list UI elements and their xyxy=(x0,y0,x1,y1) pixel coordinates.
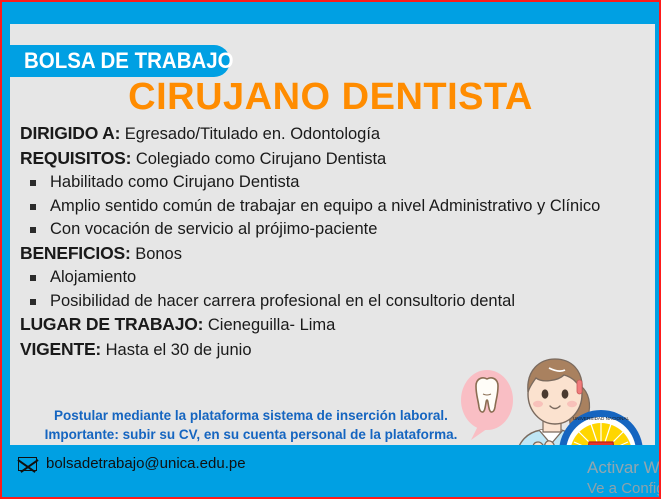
tooth-speech-bubble xyxy=(461,370,513,440)
badge-label: BOLSA DE TRABAJO xyxy=(24,48,234,74)
bullet-square-icon xyxy=(30,180,36,186)
list-item-label: Habilitado como Cirujano Dentista xyxy=(50,171,650,195)
note-line-1: Postular mediante la plataforma sistema … xyxy=(2,406,500,425)
field-lugar-de-trabajo: LUGAR DE TRABAJO: Cieneguilla- Lima xyxy=(20,313,650,338)
list-item-label: Alojamiento xyxy=(50,266,650,290)
list-item: Posibilidad de hacer carrera profesional… xyxy=(30,290,650,314)
windows-activation-watermark: Activar W Ve a Config xyxy=(587,457,659,497)
list-item: Habilitado como Cirujano Dentista xyxy=(30,171,650,195)
bullet-square-icon xyxy=(30,275,36,281)
field-dirigido-a: DIRIGIDO A: Egresado/Titulado en. Odonto… xyxy=(20,122,650,147)
job-posting-poster: BOLSA DE TRABAJO CIRUJANO DENTISTA DIRIG… xyxy=(2,2,659,497)
watermark-line-2: Ve a Config xyxy=(587,478,659,497)
field-label: VIGENTE: xyxy=(20,339,101,359)
svg-text:UNIVERSIDAD NACIONAL: UNIVERSIDAD NACIONAL xyxy=(573,416,630,421)
posting-body: DIRIGIDO A: Egresado/Titulado en. Odonto… xyxy=(20,122,650,362)
field-label: LUGAR DE TRABAJO: xyxy=(20,314,203,334)
email-address: bolsadetrabajo@unica.edu.pe xyxy=(46,455,246,472)
field-requisitos: REQUISITOS: Colegiado como Cirujano Dent… xyxy=(20,147,650,172)
footer-bar: bolsadetrabajo@unica.edu.pe xyxy=(2,445,659,497)
page-title: CIRUJANO DENTISTA xyxy=(2,78,659,116)
field-value: Bonos xyxy=(135,245,182,263)
bolsa-de-trabajo-badge: BOLSA DE TRABAJO xyxy=(2,45,230,77)
watermark-line-1: Activar W xyxy=(587,457,659,478)
field-label: DIRIGIDO A: xyxy=(20,123,120,143)
list-item-label: Amplio sentido común de trabajar en equi… xyxy=(50,195,650,219)
contact-email[interactable]: bolsadetrabajo@unica.edu.pe xyxy=(18,455,246,472)
field-beneficios: BENEFICIOS: Bonos xyxy=(20,242,650,267)
bullet-square-icon xyxy=(30,227,36,233)
field-value: Egresado/Titulado en. Odontología xyxy=(125,125,380,143)
field-value: Colegiado como Cirujano Dentista xyxy=(136,150,386,168)
application-note: Postular mediante la plataforma sistema … xyxy=(2,406,500,444)
field-value: Hasta el 30 de junio xyxy=(106,341,252,359)
list-item: Amplio sentido común de trabajar en equi… xyxy=(30,195,650,219)
field-label: BENEFICIOS: xyxy=(20,243,131,263)
note-line-2: Importante: subir su CV, en su cuenta pe… xyxy=(2,425,500,444)
list-item-label: Posibilidad de hacer carrera profesional… xyxy=(50,290,650,314)
field-label: REQUISITOS: xyxy=(20,148,131,168)
list-item: Con vocación de servicio al prójimo-paci… xyxy=(30,218,650,242)
field-value: Cieneguilla- Lima xyxy=(208,316,335,334)
list-item-label: Con vocación de servicio al prójimo-paci… xyxy=(50,218,650,242)
list-item: Alojamiento xyxy=(30,266,650,290)
bullet-square-icon xyxy=(30,204,36,210)
envelope-icon xyxy=(18,457,37,471)
bullet-square-icon xyxy=(30,299,36,305)
